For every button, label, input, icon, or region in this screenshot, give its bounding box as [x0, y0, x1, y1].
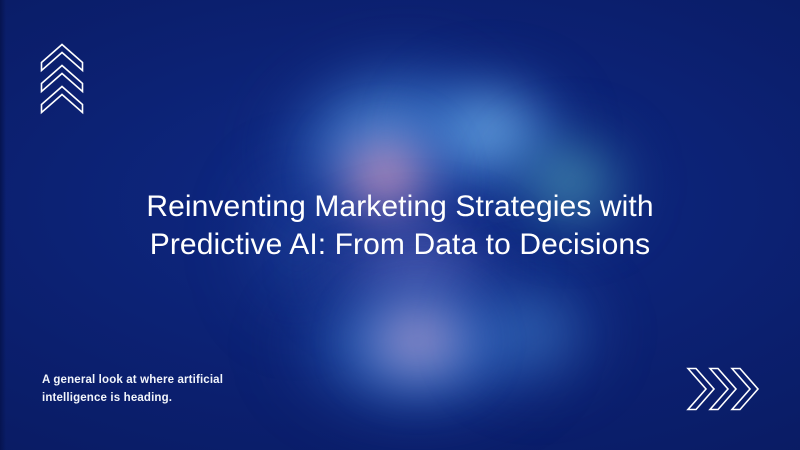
title-line-2: Predictive AI: From Data to Decisions [0, 226, 800, 264]
slide-title: Reinventing Marketing Strategies with Pr… [0, 188, 800, 264]
subtitle-line-1: A general look at where artificial [42, 371, 302, 389]
presentation-slide: Reinventing Marketing Strategies with Pr… [0, 0, 800, 450]
triple-chevron-right-mark [686, 366, 758, 412]
title-line-1: Reinventing Marketing Strategies with [0, 188, 800, 226]
subtitle-line-2: intelligence is heading. [42, 389, 302, 407]
blob-pink-lower [348, 288, 488, 393]
triple-chevron-up-logo [40, 42, 84, 116]
slide-subtitle: A general look at where artificial intel… [42, 371, 302, 407]
